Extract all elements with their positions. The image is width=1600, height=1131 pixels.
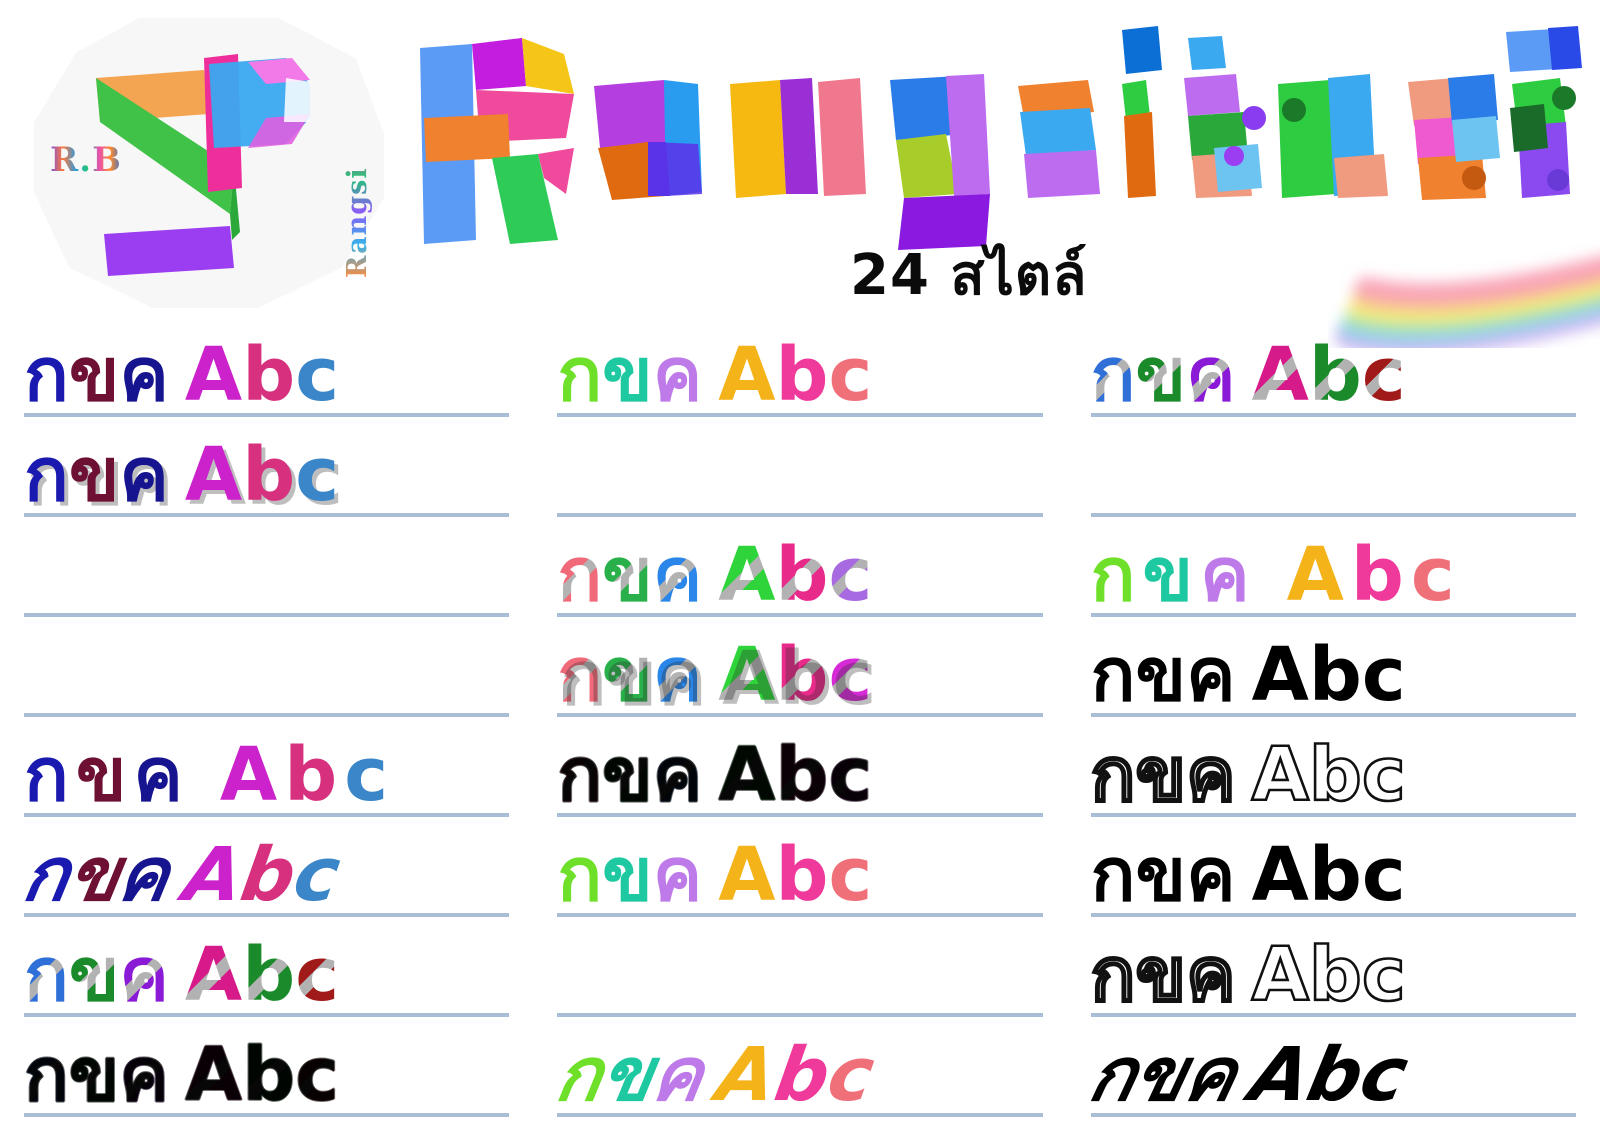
font-specimen-style-04[interactable]: กขคAbc	[24, 618, 509, 717]
column-1: กขคAbcกขคAbcกขคAbcกขคAbcกขคAbcกขคAbcกขคA…	[0, 318, 533, 1118]
specimen-thai-glyph: ค	[119, 941, 169, 1009]
specimen-latin-glyph: b	[776, 341, 829, 409]
title-wordmark-icon	[398, 8, 1588, 258]
specimen-thai-glyph: ข	[602, 841, 653, 909]
font-specimen-style-15[interactable]: กขคAbc	[557, 918, 1042, 1017]
specimen-latin-glyph: A	[718, 341, 775, 409]
font-specimen-style-01[interactable]: กขคAbc	[24, 318, 509, 417]
specimen-latin-glyph: c	[1362, 641, 1406, 709]
specimen-latin-glyph: A	[1252, 441, 1309, 509]
specimen-thai-glyph: ค	[119, 641, 169, 709]
specimen-thai-glyph: ข	[1135, 741, 1186, 809]
specimen-latin-glyph: b	[242, 641, 295, 709]
specimen-latin-glyph: A	[185, 641, 242, 709]
specimen-thai-glyph: ข	[69, 641, 120, 709]
specimen-latin-glyph: c	[295, 641, 339, 709]
specimen-sample-text: กขคAbc	[24, 741, 395, 813]
font-specimen-style-21[interactable]: กขคAbc	[1091, 718, 1576, 817]
specimen-latin-glyph: c	[295, 541, 339, 609]
specimen-thai-glyph: ข	[602, 341, 653, 409]
font-specimen-style-22[interactable]: กขคAbc	[1091, 818, 1576, 917]
specimen-latin-glyph: A	[185, 341, 242, 409]
specimen-thai-glyph: ก	[557, 341, 602, 409]
specimen-sample-text: กขคAbc	[557, 1041, 872, 1113]
specimen-thai-glyph: ค	[653, 641, 703, 709]
specimen-thai-glyph: ค	[119, 441, 169, 509]
specimen-thai-glyph: ค	[119, 541, 169, 609]
specimen-latin-glyph: b	[776, 941, 829, 1009]
specimen-thai-glyph: ก	[24, 441, 69, 509]
font-specimen-style-10[interactable]: กขคAbc	[557, 418, 1042, 517]
specimen-thai-glyph: ก	[1091, 541, 1143, 609]
specimen-thai-glyph: ก	[24, 941, 69, 1009]
specimen-thai-glyph: ข	[602, 741, 653, 809]
specimen-latin-glyph: A	[718, 941, 775, 1009]
specimen-latin-glyph: b	[284, 741, 344, 809]
specimen-sample-text: กขคAbc	[1091, 541, 1462, 613]
specimen-thai-glyph: ข	[69, 441, 120, 509]
specimen-latin-glyph: A	[185, 441, 242, 509]
font-specimen-style-09[interactable]: กขคAbc	[557, 318, 1042, 417]
specimen-thai-glyph: ก	[557, 641, 602, 709]
specimen-latin-glyph: b	[1309, 341, 1362, 409]
specimen-latin-glyph: b	[242, 541, 295, 609]
specimen-sample-text: กขคAbc	[24, 1041, 339, 1113]
specimen-sample-text: กขคAbc	[557, 741, 872, 813]
logo-vertical-line1: Rangsi	[342, 167, 373, 278]
font-specimen-style-17[interactable]: กขคAbc	[1091, 318, 1576, 417]
specimen-thai-glyph: ข	[602, 941, 653, 1009]
font-specimen-style-07[interactable]: กขคAbc	[24, 918, 509, 1017]
font-specimen-style-24[interactable]: กขคAbc	[1091, 1018, 1576, 1117]
specimen-thai-glyph: ค	[653, 441, 703, 509]
specimen-latin-glyph: A	[718, 441, 770, 509]
specimen-latin-glyph: b	[1309, 441, 1362, 509]
specimen-sample-text: กขคAbc	[557, 841, 872, 913]
specimen-thai-glyph: ค	[133, 741, 190, 809]
specimen-thai-glyph: ข	[69, 541, 120, 609]
logo-vertical-text: Rangsi Color	[344, 70, 372, 278]
specimen-latin-glyph: b	[242, 341, 295, 409]
specimen-latin-glyph: b	[1309, 941, 1362, 1009]
specimen-latin-glyph: b	[242, 441, 295, 509]
specimen-latin-glyph: c	[1411, 541, 1462, 609]
font-specimen-style-16[interactable]: กขคAbc	[557, 1018, 1042, 1117]
specimen-thai-glyph: ข	[602, 641, 653, 709]
specimen-thai-glyph: ค	[1200, 541, 1257, 609]
specimen-latin-glyph: c	[829, 641, 873, 709]
specimen-thai-glyph: ค	[653, 541, 703, 609]
specimen-thai-glyph: ค	[119, 341, 169, 409]
specimen-latin-glyph: A	[1287, 541, 1351, 609]
specimen-sample-text: กขคAbc	[557, 541, 872, 613]
specimen-thai-glyph: ค	[1186, 841, 1236, 909]
specimen-latin-glyph: c	[295, 941, 339, 1009]
specimen-latin-glyph: c	[295, 341, 339, 409]
specimen-latin-glyph: A	[718, 541, 775, 609]
specimen-sample-text: กขคAbc	[24, 441, 339, 513]
specimen-latin-glyph: c	[829, 541, 873, 609]
specimen-sample-text: กขคAbc	[24, 941, 339, 1013]
specimen-thai-glyph: ค	[653, 941, 703, 1009]
specimen-thai-glyph: ข	[69, 941, 120, 1009]
specimen-thai-glyph: ก	[557, 941, 602, 1009]
specimen-sample-text: กขคAbc	[24, 541, 339, 613]
specimen-thai-glyph: ก	[1091, 341, 1136, 409]
specimen-latin-glyph: c	[829, 341, 873, 409]
specimen-thai-glyph: ค	[1186, 441, 1236, 509]
specimen-thai-glyph: ข	[1135, 941, 1186, 1009]
specimen-latin-glyph: c	[295, 441, 339, 509]
specimen-latin-glyph: A	[718, 741, 775, 809]
specimen-sample-text: กขคAbc	[1091, 941, 1406, 1013]
specimen-latin-glyph: b	[242, 941, 295, 1009]
specimen-thai-glyph: ข	[1135, 441, 1186, 509]
specimen-thai-glyph: ก	[1091, 641, 1136, 709]
specimen-sample-text: กขคAbc	[1091, 741, 1406, 813]
font-specimen-style-14[interactable]: กขคAbc	[557, 818, 1042, 917]
poster-title: 24 สไตล์	[398, 8, 1588, 258]
specimen-sample-text: กขคAbc	[1091, 341, 1406, 413]
specimen-latin-glyph: A	[220, 741, 284, 809]
logo-vertical-line2: Color	[342, 70, 373, 157]
specimen-thai-glyph: ก	[557, 441, 602, 509]
specimen-latin-glyph: b	[770, 441, 818, 509]
specimen-sample-text: กขคAbc	[557, 941, 872, 1013]
specimen-thai-glyph: ค	[114, 841, 174, 909]
specimen-latin-glyph: b	[242, 1041, 295, 1109]
font-specimen-style-18[interactable]: กขคAbc	[1091, 418, 1576, 517]
specimen-latin-glyph: c	[290, 841, 345, 909]
specimen-latin-glyph: b	[1309, 641, 1362, 709]
specimen-thai-glyph: ค	[1186, 941, 1236, 1009]
specimen-latin-glyph: b	[776, 741, 829, 809]
specimen-sample-text: กขคAbc	[24, 341, 339, 413]
specimen-sample-text: กขคAbc	[557, 441, 857, 513]
specimen-thai-glyph: ก	[1091, 841, 1136, 909]
brand-logo: R.B Rangsi Color	[34, 18, 384, 308]
specimen-thai-glyph: ข	[1135, 841, 1186, 909]
subtitle-style-count: 24 สไตล์	[850, 230, 1087, 319]
font-specimen-style-12[interactable]: กขคAbc	[557, 618, 1042, 717]
specimen-latin-glyph: c	[829, 941, 873, 1009]
specimen-thai-glyph: ก	[1091, 741, 1136, 809]
specimen-latin-glyph: c	[1362, 341, 1406, 409]
specimen-latin-glyph: c	[817, 441, 856, 509]
specimen-thai-glyph: ข	[69, 1041, 120, 1109]
specimen-thai-glyph: ก	[557, 541, 602, 609]
specimen-latin-glyph: A	[185, 541, 242, 609]
specimen-latin-glyph: A	[185, 1041, 242, 1109]
specimen-latin-glyph: b	[776, 541, 829, 609]
specimen-latin-glyph: A	[1252, 741, 1309, 809]
specimen-thai-glyph: ข	[602, 541, 653, 609]
specimen-thai-glyph: ค	[653, 341, 703, 409]
specimen-latin-glyph: b	[776, 841, 829, 909]
specimen-latin-glyph: c	[1362, 841, 1406, 909]
poster-canvas: R.B Rangsi Color	[0, 0, 1600, 1131]
specimen-latin-glyph: A	[1252, 341, 1309, 409]
specimen-thai-glyph: ค	[653, 741, 703, 809]
specimen-thai-glyph: ข	[1135, 641, 1186, 709]
font-specimen-grid: กขคAbcกขคAbcกขคAbcกขคAbcกขคAbcกขคAbcกขคA…	[0, 318, 1600, 1118]
specimen-latin-glyph: A	[1252, 641, 1309, 709]
specimen-latin-glyph: A	[718, 641, 775, 709]
specimen-latin-glyph: A	[713, 1041, 781, 1109]
specimen-latin-glyph: b	[776, 641, 829, 709]
specimen-thai-glyph: ก	[24, 1041, 69, 1109]
font-specimen-style-03[interactable]: กขคAbc	[24, 518, 509, 617]
specimen-thai-glyph: ก	[24, 541, 69, 609]
specimen-latin-glyph: A	[1252, 841, 1309, 909]
font-specimen-style-02[interactable]: กขคAbc	[24, 418, 509, 517]
specimen-thai-glyph: ข	[1142, 541, 1200, 609]
font-specimen-style-19[interactable]: กขคAbc	[1091, 518, 1576, 617]
specimen-sample-text: กขคAbc	[1091, 1041, 1406, 1113]
specimen-thai-glyph: ก	[557, 841, 602, 909]
specimen-thai-glyph: ข	[69, 341, 120, 409]
logo-rb-text: R.B	[50, 140, 122, 180]
specimen-thai-glyph: ค	[119, 1041, 169, 1109]
specimen-thai-glyph: ก	[1091, 941, 1136, 1009]
specimen-thai-glyph: ค	[1186, 741, 1236, 809]
specimen-latin-glyph: b	[1351, 541, 1411, 609]
specimen-thai-glyph: ก	[24, 341, 69, 409]
font-specimen-style-06[interactable]: กขคAbc	[24, 818, 509, 917]
font-specimen-style-08[interactable]: กขคAbc	[24, 1018, 509, 1117]
specimen-latin-glyph: c	[344, 741, 395, 809]
specimen-thai-glyph: ข	[602, 441, 653, 509]
specimen-thai-glyph: ก	[1091, 441, 1136, 509]
specimen-sample-text: กขคAbc	[1091, 441, 1406, 513]
specimen-sample-text: กขคAbc	[1091, 641, 1406, 713]
specimen-thai-glyph: ค	[647, 1041, 707, 1109]
specimen-latin-glyph: b	[1309, 841, 1362, 909]
specimen-thai-glyph: ค	[1186, 341, 1236, 409]
font-specimen-style-20[interactable]: กขคAbc	[1091, 618, 1576, 717]
specimen-thai-glyph: ค	[653, 841, 703, 909]
specimen-thai-glyph: ค	[1186, 641, 1236, 709]
specimen-latin-glyph: c	[829, 741, 873, 809]
specimen-latin-glyph: A	[718, 841, 775, 909]
font-specimen-style-11[interactable]: กขคAbc	[557, 518, 1042, 617]
specimen-sample-text: กขคAbc	[24, 641, 339, 713]
specimen-thai-glyph: ข	[76, 741, 134, 809]
specimen-latin-glyph: c	[1362, 441, 1406, 509]
specimen-thai-glyph: ก	[557, 741, 602, 809]
font-specimen-style-23[interactable]: กขคAbc	[1091, 918, 1576, 1017]
column-3: กขคAbcกขคAbcกขคAbcกขคAbcกขคAbcกขคAbcกขคA…	[1067, 318, 1600, 1118]
specimen-latin-glyph: A	[1252, 941, 1309, 1009]
font-specimen-style-05[interactable]: กขคAbc	[24, 718, 509, 817]
specimen-sample-text: กขคAbc	[1091, 841, 1406, 913]
column-2: กขคAbcกขคAbcกขคAbcกขคAbcกขคAbcกขคAbcกขคA…	[533, 318, 1066, 1118]
specimen-latin-glyph: c	[295, 1041, 339, 1109]
specimen-thai-glyph: ข	[1135, 341, 1186, 409]
specimen-latin-glyph: A	[185, 941, 242, 1009]
specimen-sample-text: กขคAbc	[557, 341, 872, 413]
specimen-latin-glyph: c	[829, 841, 873, 909]
specimen-latin-glyph: c	[1362, 941, 1406, 1009]
specimen-latin-glyph: c	[1362, 741, 1406, 809]
specimen-thai-glyph: ก	[24, 641, 69, 709]
specimen-thai-glyph: ก	[24, 741, 76, 809]
specimen-sample-text: กขคAbc	[24, 841, 339, 913]
specimen-latin-glyph: b	[1309, 741, 1362, 809]
specimen-sample-text: กขคAbc	[557, 641, 872, 713]
font-specimen-style-13[interactable]: กขคAbc	[557, 718, 1042, 817]
